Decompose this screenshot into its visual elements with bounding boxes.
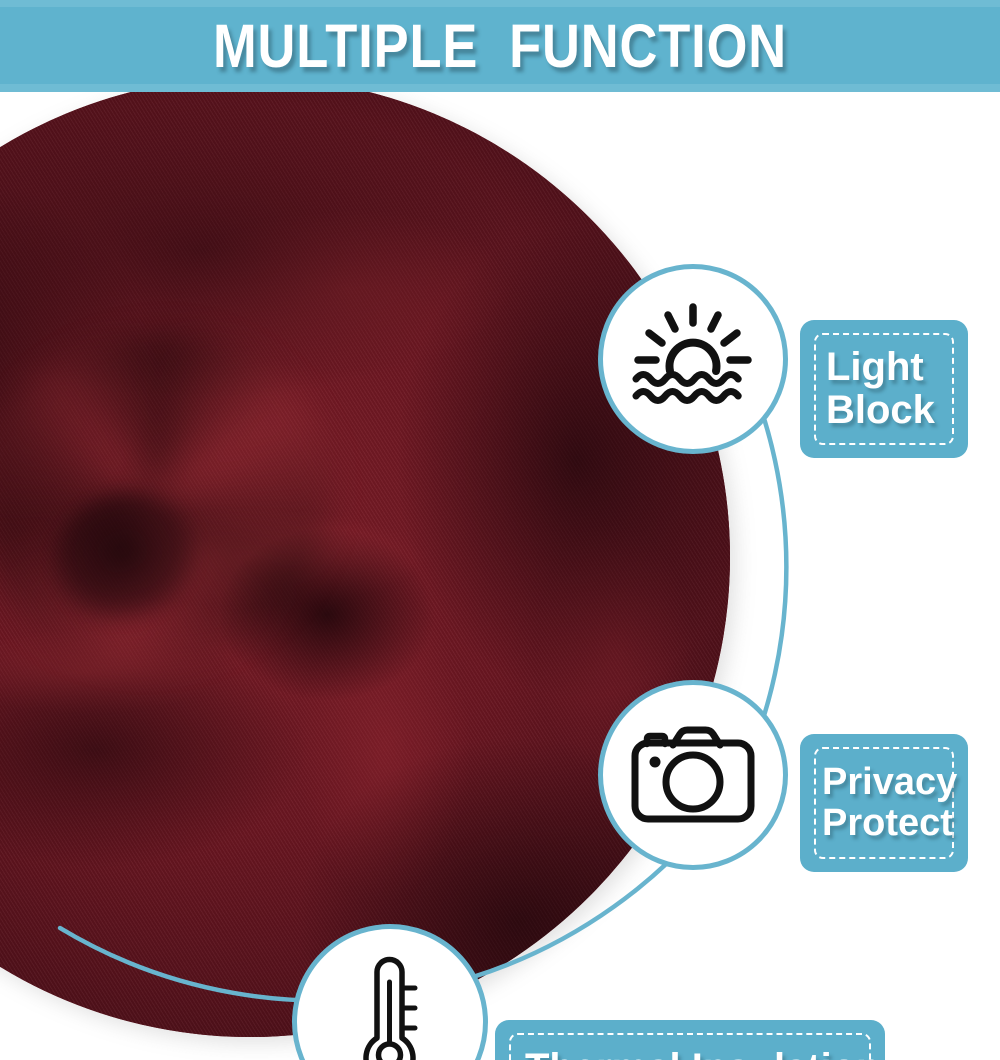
feature-icon-bubble-privacy-protect[interactable] — [598, 680, 788, 870]
camera-flash-dot — [650, 757, 661, 768]
feature-icon-bubble-light-block[interactable] — [598, 264, 788, 454]
page-title: MULTIPLE FUNCTION — [70, 0, 930, 92]
fabric-swirl-pattern — [0, 287, 376, 712]
header-banner: MULTIPLE FUNCTION — [0, 0, 1000, 92]
feature-label-thermal-insulation: Thermal Insulation — [495, 1020, 885, 1060]
feature-label-light-block: Light Block — [800, 320, 968, 458]
fabric-swatch-circle — [0, 92, 730, 1037]
feature-badge-thermal-insulation[interactable]: Thermal Insulation — [495, 1020, 885, 1060]
fabric-texture — [0, 92, 730, 1037]
feature-label-privacy-protect: Privacy Protect — [800, 734, 968, 872]
camera-icon — [630, 725, 756, 825]
product-feature-stage: Light Block Privacy Prot — [0, 92, 1000, 1060]
sunrise-icon — [628, 299, 758, 419]
thermometer-icon — [347, 952, 433, 1060]
feature-badge-light-block[interactable]: Light Block — [800, 320, 968, 458]
feature-badge-privacy-protect[interactable]: Privacy Protect — [800, 734, 968, 872]
